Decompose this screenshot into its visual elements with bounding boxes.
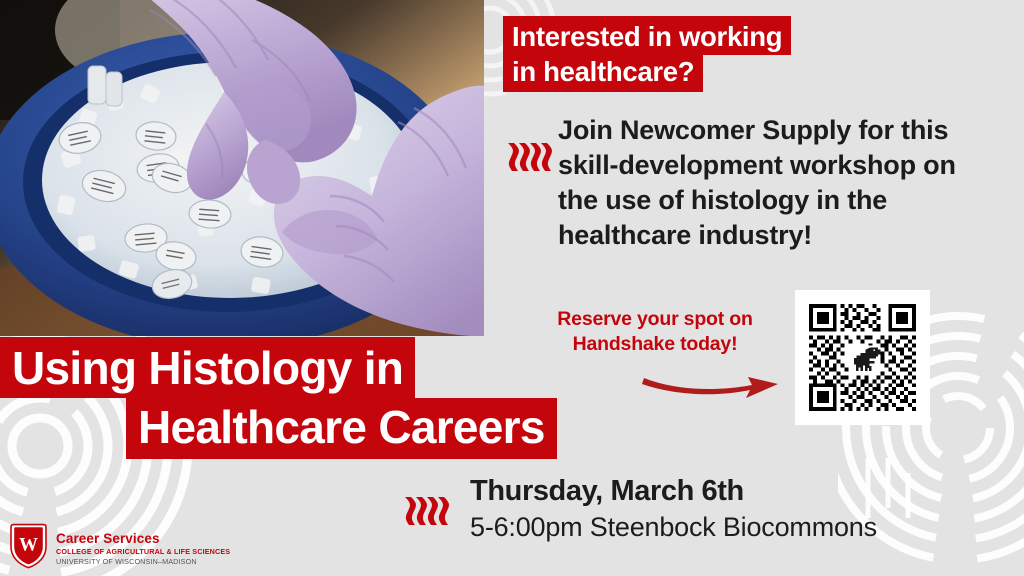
event-date: Thursday, March 6th [470, 473, 877, 509]
blurb-text: Join Newcomer Supply for this skill-deve… [558, 113, 998, 253]
workshop-photo [0, 0, 484, 336]
event-details: Thursday, March 6th 5-6:00pm Steenbock B… [470, 473, 877, 545]
uw-crest-icon: W [8, 523, 49, 574]
reserve-callout: Reserve your spot on Handshake today! [530, 307, 780, 357]
logo-line-2: COLLEGE OF AGRICULTURAL & LIFE SCIENCES [56, 548, 230, 555]
logo-line-1: Career Services [56, 532, 230, 546]
poster: Interested in working in healthcare? Joi… [0, 0, 1024, 576]
page-title: Using Histology in Healthcare Careers [0, 337, 557, 459]
reserve-line-1: Reserve your spot on [557, 308, 752, 330]
svg-text:W: W [19, 535, 38, 556]
qr-code[interactable] [795, 290, 930, 425]
uw-career-services-logo: W Career Services COLLEGE OF AGRICULTURA… [8, 523, 230, 574]
chevrons-right-icon [506, 141, 554, 178]
dinosaur-icon [849, 346, 881, 376]
chevrons-right-icon [403, 495, 451, 532]
blurb: Join Newcomer Supply for this skill-deve… [558, 113, 998, 253]
logo-line-3: UNIVERSITY OF WISCONSIN–MADISON [56, 558, 230, 565]
title-line-2: Healthcare Careers [126, 398, 557, 459]
headline-line-2: in healthcare? [503, 55, 703, 93]
curved-arrow-right-icon [640, 358, 785, 408]
headline: Interested in working in healthcare? [503, 16, 903, 92]
event-time-location: 5-6:00pm Steenbock Biocommons [470, 511, 877, 545]
reserve-line-2: Handshake today! [573, 333, 738, 355]
title-line-1: Using Histology in [0, 337, 415, 398]
headline-line-1: Interested in working [503, 16, 791, 55]
